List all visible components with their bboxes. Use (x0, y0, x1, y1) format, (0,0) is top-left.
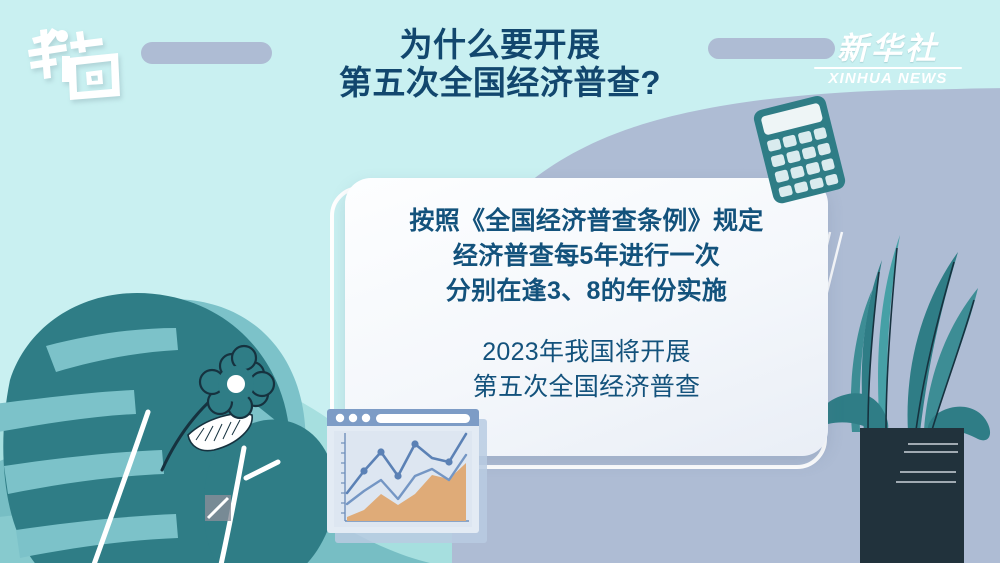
chart-window (327, 409, 490, 545)
kepu-logo (26, 22, 122, 100)
window-dot-3 (362, 414, 370, 422)
calculator-icon (752, 94, 847, 205)
infographic-canvas: 按照《全国经济普查条例》规定 经济普查每5年进行一次 分别在逢3、8的年份实施 … (0, 0, 1000, 563)
window-dot-2 (349, 414, 357, 422)
window-dot-1 (336, 414, 344, 422)
xinhua-logo-en: XINHUA NEWS (812, 71, 964, 87)
xinhua-logo-cn: 新华社 (812, 32, 964, 66)
window-addressbar (376, 414, 470, 423)
xinhua-logo-rule (814, 67, 962, 69)
xinhua-logo: 新华社 XINHUA NEWS (812, 32, 964, 88)
